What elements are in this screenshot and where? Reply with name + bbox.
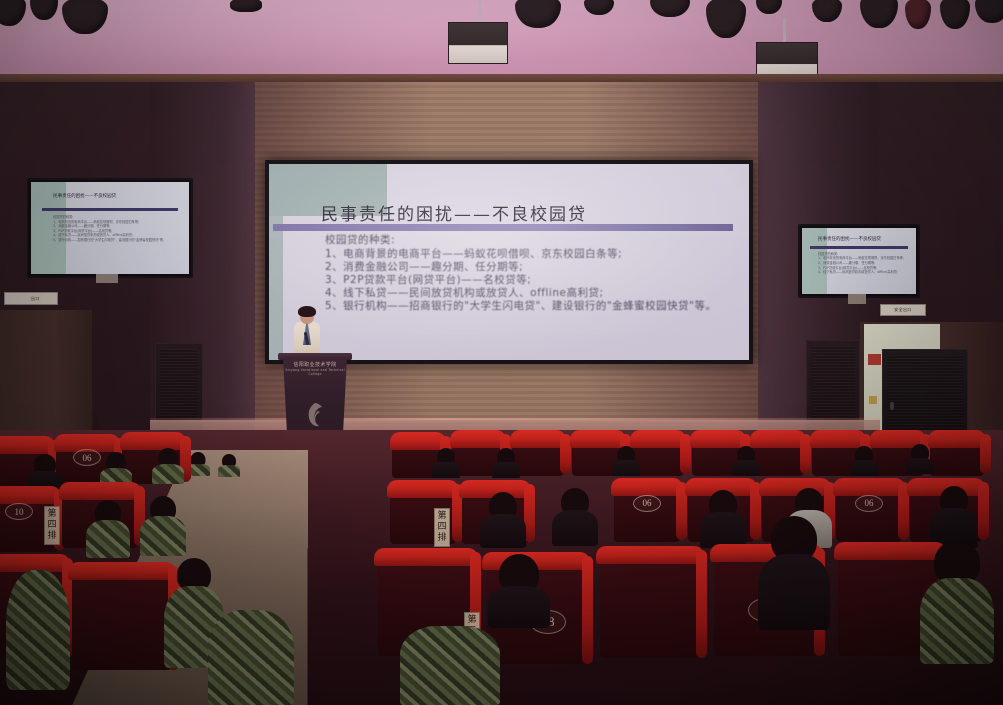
audience-member <box>208 610 294 705</box>
audience-shoulders <box>152 464 184 484</box>
presenter <box>292 306 322 360</box>
right-monitor-body: 校园贷的种类: 1、电商背景的电商平台——蚂蚁花呗借呗、京东校园白条等; 2、消… <box>818 252 909 275</box>
slide-title: 民事责任的困扰——不良校园贷 <box>321 200 721 225</box>
danger-label <box>868 354 881 365</box>
seat[interactable]: 06 <box>614 486 680 542</box>
audience-shoulders <box>488 586 550 628</box>
audience-member <box>86 500 130 556</box>
audience-shoulders <box>920 578 994 664</box>
seat-number: 06 <box>73 449 101 466</box>
audience-member <box>152 448 184 484</box>
projector-mount-rod <box>478 0 481 22</box>
slide-list-item: 4、线下私贷——民间放贷机构或放贷人、offline高利贷; <box>325 287 730 300</box>
audience-member <box>6 570 70 690</box>
seat-headrest <box>611 478 682 496</box>
seat[interactable] <box>72 570 172 670</box>
cabinet-texture <box>887 355 963 435</box>
left-monitor-body: 校园贷的种类: 1、电商背景的电商平台——蚂蚁花呗借呗、京东校园白条等; 2、消… <box>53 215 179 243</box>
seat-headrest <box>387 480 458 498</box>
auditorium-scene: 民事责任的困扰——不良校园贷 校园贷的种类: 1、电商背景的电商平台——蚂蚁花呗… <box>0 0 1003 705</box>
seat-armrest <box>582 556 593 664</box>
seat[interactable] <box>930 438 984 476</box>
ceiling-projector <box>448 22 508 64</box>
seat-headrest <box>510 430 566 448</box>
projection-screen[interactable]: 民事责任的困扰——不良校园贷 校园贷的种类: 1、电商背景的电商平台——蚂蚁花呗… <box>265 160 753 364</box>
audience-shoulders <box>758 554 830 630</box>
seat-headrest <box>810 430 866 448</box>
audience-member <box>920 540 994 660</box>
seat[interactable]: 06 <box>836 486 902 542</box>
seat-headrest <box>450 430 506 448</box>
left-monitor-stand <box>96 274 118 283</box>
audience-member <box>488 554 550 622</box>
seat-armrest <box>980 434 991 474</box>
cabinet-handle[interactable] <box>890 402 894 410</box>
slide-body: 校园贷的种类: 1、电商背景的电商平台——蚂蚁花呗借呗、京东校园白条等; 2、消… <box>325 234 730 313</box>
stage-light-icon <box>230 0 262 12</box>
seat-headrest <box>59 482 141 500</box>
audience-member <box>906 444 934 472</box>
row-label-text: 第四排 <box>45 509 59 542</box>
audience-shoulders <box>480 514 526 548</box>
audience-member <box>480 492 526 546</box>
exit-sign-right-label: 安全出口 <box>894 307 912 313</box>
audience-member <box>218 454 240 476</box>
audience-member <box>100 452 132 486</box>
seat-headrest <box>750 430 806 448</box>
seat-headrest <box>630 430 686 448</box>
right-monitor[interactable]: 民事责任的困扰——不良校园贷 校园贷的种类: 1、电商背景的电商平台——蚂蚁花呗… <box>798 224 920 298</box>
seat-headrest <box>596 546 704 564</box>
seat-headrest <box>690 430 746 448</box>
row-label: 第四排 <box>434 508 450 547</box>
left-monitor-title: 民事责任的困扰——不良校园贷 <box>53 193 116 199</box>
right-monitor-screen: 民事责任的困扰——不良校园贷 校园贷的种类: 1、电商背景的电商平台——蚂蚁花呗… <box>802 228 916 294</box>
audience-shoulders <box>492 462 520 478</box>
seat-headrest <box>68 562 176 580</box>
audience-shoulders <box>700 512 746 548</box>
audience-member <box>140 496 186 554</box>
monitor-line: 5、银行机构——招商银行的"大学生闪电贷"、建设银行的"金蜂蜜校园快贷"等。 <box>53 238 179 243</box>
seat-armrest <box>696 550 707 658</box>
slide-list-item: 3、P2P贷款平台(网贷平台)——名校贷等; <box>325 274 730 287</box>
seat-headrest <box>0 486 61 504</box>
seat-number: 06 <box>633 495 661 512</box>
seat-headrest <box>570 430 626 448</box>
slide-list-item: 2、消费金融公司——趣分期、任分期等; <box>325 261 730 274</box>
monitor-accent-bar <box>42 208 178 211</box>
right-monitor-stand <box>848 294 866 304</box>
slide-list-item: 1、电商背景的电商平台——蚂蚁花呗借呗、京东校园白条等; <box>325 248 730 261</box>
audience-seating-area: 06 10 <box>0 430 1003 705</box>
slide-surface: 民事责任的困扰——不良校园贷 校园贷的种类: 1、电商背景的电商平台——蚂蚁花呗… <box>269 164 749 360</box>
wall-plate <box>14 294 30 303</box>
row-label: 第四排 <box>44 506 60 545</box>
seat[interactable] <box>600 554 700 658</box>
audience-member <box>432 448 460 476</box>
slide-accent-bar <box>273 224 733 231</box>
audience-shoulders <box>140 516 186 556</box>
audience-member <box>700 490 746 546</box>
right-monitor-title: 民事责任的困扰——不良校园贷 <box>818 236 881 242</box>
slide-lead-line: 校园贷的种类: <box>325 234 730 247</box>
audience-shoulders <box>612 460 640 476</box>
audience-shoulders <box>86 520 130 558</box>
cabinet-sticker <box>869 396 877 404</box>
audience-shoulders <box>732 460 760 476</box>
audience-member <box>930 486 978 546</box>
podium-en-text: Xinyang Vocational and Technical College <box>283 368 347 376</box>
audience-shoulders <box>906 458 934 474</box>
audience-shoulders <box>552 510 598 546</box>
monitor-accent-bar <box>810 246 908 249</box>
audience-member <box>732 446 760 474</box>
audience-shoulders <box>432 462 460 478</box>
seat-back <box>600 554 700 658</box>
audience-member <box>612 446 640 474</box>
equipment-cabinet[interactable] <box>882 349 968 441</box>
row-label-text: 第四排 <box>435 511 449 544</box>
seat-headrest <box>0 436 55 454</box>
audience-member <box>492 448 520 476</box>
seat-headrest <box>390 432 446 450</box>
seat-number: 06 <box>855 495 883 512</box>
audience-member <box>850 446 878 474</box>
seat-armrest <box>978 482 989 540</box>
college-emblem-icon <box>303 402 327 428</box>
seat-back <box>72 570 172 670</box>
podium-cn-text: 信阳职业技术学院 <box>283 361 347 368</box>
seat-headrest <box>833 478 904 496</box>
audience-member <box>28 454 62 488</box>
left-monitor[interactable]: 民事责任的困扰——不良校园贷 校园贷的种类: 1、电商背景的电商平台——蚂蚁花呗… <box>27 178 193 278</box>
slide-list-item: 5、银行机构——招商银行的"大学生闪电贷"、建设银行的"金蜂蜜校园快贷"等。 <box>325 300 730 313</box>
seat-headrest <box>120 432 187 450</box>
exit-sign-left: 安全出口 <box>4 292 58 305</box>
audience-member <box>552 488 598 544</box>
left-monitor-screen: 民事责任的困扰——不良校园贷 校园贷的种类: 1、电商背景的电商平台——蚂蚁花呗… <box>31 182 189 274</box>
audience-shoulders <box>218 465 240 477</box>
presenter-hair <box>298 306 316 317</box>
seat-headrest <box>374 548 478 566</box>
exit-sign-right: 安全出口 <box>880 304 926 316</box>
projector-mount-rod <box>783 18 786 42</box>
audience-member <box>400 626 500 705</box>
monitor-line: 4、线下私贷——民间放贷机构或放贷人、offline高利贷; <box>818 270 909 275</box>
seat-headrest <box>928 430 986 448</box>
seat-number: 10 <box>5 503 33 520</box>
audience-shoulders <box>850 460 878 476</box>
audience-member <box>758 516 830 626</box>
